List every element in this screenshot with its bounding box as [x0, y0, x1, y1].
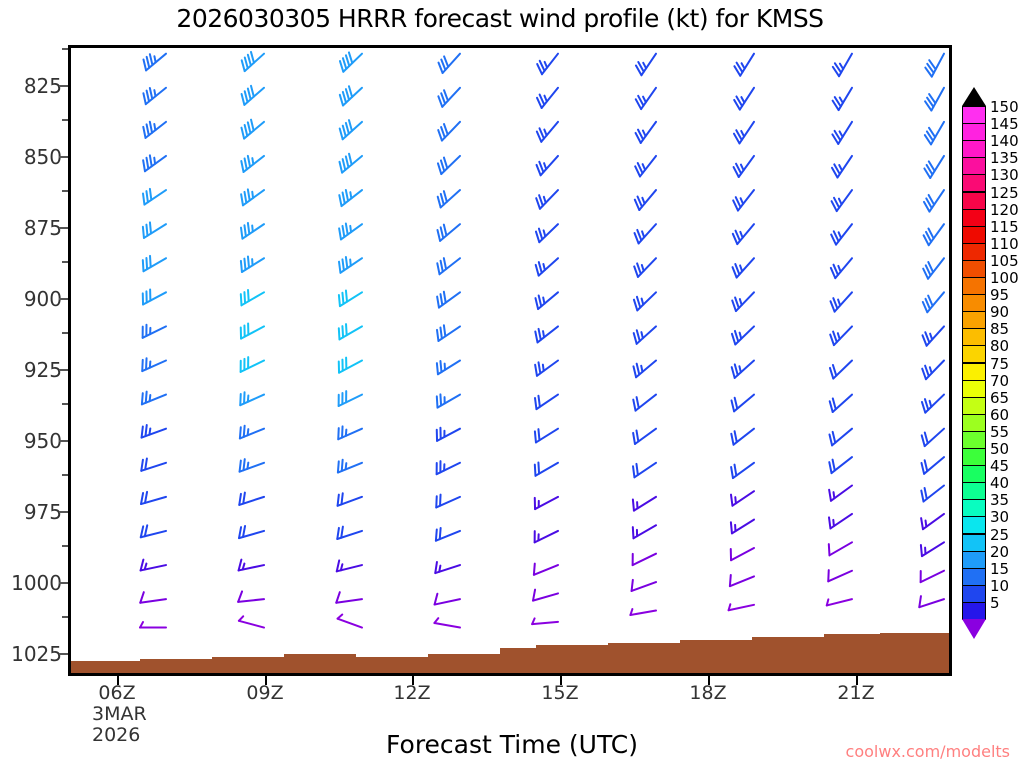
colorbar-extend-min-arrow [962, 619, 986, 639]
colorbar-tick-label: 20 [990, 543, 1009, 561]
y-axis-tick-mark [59, 369, 68, 371]
colorbar-tick-label: 25 [990, 526, 1009, 544]
barb-column [630, 54, 656, 615]
colorbar-swatch [962, 534, 986, 552]
colorbar-tick-label: 75 [990, 355, 1009, 373]
colorbar-swatch [962, 157, 986, 175]
y-axis-tick-label: 925 [0, 358, 62, 382]
colorbar-swatch [962, 363, 986, 381]
colorbar-swatch [962, 243, 986, 261]
colorbar-swatch [962, 174, 986, 192]
colorbar-swatch [962, 585, 986, 603]
barb-column [919, 54, 944, 607]
x-axis-tick-mark [856, 676, 858, 685]
y-axis-minor-tick [62, 545, 68, 547]
plot-inner [71, 48, 949, 673]
y-axis-minor-tick [62, 261, 68, 263]
y-axis-minor-tick [62, 474, 68, 476]
barb-column [336, 52, 362, 627]
colorbar-swatch [962, 602, 986, 620]
x-axis-tick-label: 06Z [98, 682, 135, 704]
y-axis-tick-label: 900 [0, 287, 62, 311]
colorbar-swatch [962, 516, 986, 534]
colorbar-legend: 1501451401351301251201151101051009590858… [962, 86, 1024, 656]
colorbar-swatch [962, 414, 986, 432]
colorbar-tick-label: 80 [990, 337, 1009, 355]
watermark-link[interactable]: coolwx.com/modelts [846, 742, 1010, 761]
barb-column [140, 54, 166, 628]
colorbar-tick-label: 30 [990, 508, 1009, 526]
colorbar-tick-label: 150 [990, 98, 1019, 116]
colorbar-swatch [962, 311, 986, 329]
colorbar-tick-label: 70 [990, 372, 1009, 390]
barb-column [827, 54, 852, 606]
colorbar-swatch [962, 106, 986, 124]
wind-barb-layer [71, 48, 949, 673]
colorbar-swatch [962, 380, 986, 398]
colorbar-swatch [962, 482, 986, 500]
x-axis-tick-label: 09Z [246, 682, 283, 704]
colorbar-swatch [962, 123, 986, 141]
colorbar-tick-label: 85 [990, 320, 1009, 338]
colorbar-tick-label: 145 [990, 115, 1019, 133]
x-axis-tick-mark [265, 676, 267, 685]
y-axis-tick-label: 950 [0, 429, 62, 453]
y-axis-tick-mark [59, 298, 68, 300]
colorbar-swatch [962, 499, 986, 517]
y-axis-tick-label: 825 [0, 74, 62, 98]
y-axis-minor-tick [62, 119, 68, 121]
colorbar-swatch [962, 397, 986, 415]
colorbar-extend-max-arrow [962, 87, 986, 106]
barb-column [238, 52, 264, 628]
colorbar-tick-label: 135 [990, 149, 1019, 167]
colorbar-swatch [962, 209, 986, 227]
x-axis-tick-label: 15Z [541, 682, 578, 704]
page-title: 2026030305 HRRR forecast wind profile (k… [0, 4, 1000, 33]
colorbar-tick-label: 115 [990, 218, 1019, 236]
colorbar-swatch [962, 431, 986, 449]
y-axis-minor-tick [62, 48, 68, 50]
x-axis-tick-label: 12Z [393, 682, 430, 704]
colorbar-tick-label: 60 [990, 406, 1009, 424]
y-axis-tick-mark [59, 582, 68, 584]
colorbar-swatch [962, 192, 986, 210]
barb-column [434, 54, 460, 628]
colorbar-tick-label: 95 [990, 286, 1009, 304]
y-axis-tick-mark [59, 156, 68, 158]
colorbar-swatch [962, 277, 986, 295]
x-axis-tick-mark [117, 676, 119, 685]
barb-column [729, 54, 754, 611]
colorbar-tick-label: 100 [990, 269, 1019, 287]
colorbar-tick-label: 125 [990, 184, 1019, 202]
y-axis-minor-tick [62, 616, 68, 618]
plot-area [68, 45, 952, 676]
colorbar-tick-label: 45 [990, 457, 1009, 475]
colorbar-swatch [962, 551, 986, 569]
barb-column [532, 54, 558, 624]
colorbar-tick-label: 40 [990, 474, 1009, 492]
colorbar-swatch [962, 260, 986, 278]
colorbar-swatch [962, 328, 986, 346]
colorbar-tick-label: 35 [990, 491, 1009, 509]
colorbar-tick-label: 65 [990, 389, 1009, 407]
y-axis-tick-label: 875 [0, 216, 62, 240]
y-axis-tick-mark [59, 511, 68, 513]
y-axis-tick-label: 975 [0, 500, 62, 524]
y-axis-tick-label: 1025 [0, 642, 62, 666]
date-stamp-month: 3MAR [92, 704, 147, 725]
colorbar-swatch [962, 568, 986, 586]
x-axis-tick-mark [560, 676, 562, 685]
y-axis-minor-tick [62, 403, 68, 405]
colorbar-swatch [962, 465, 986, 483]
colorbar-swatch [962, 294, 986, 312]
x-axis-tick-label: 21Z [837, 682, 874, 704]
y-axis-tick-mark [59, 653, 68, 655]
colorbar-tick-label: 130 [990, 166, 1019, 184]
colorbar-tick-label: 10 [990, 577, 1009, 595]
y-axis-tick-mark [59, 85, 68, 87]
colorbar-tick-label: 50 [990, 440, 1009, 458]
x-axis-tick-label: 18Z [689, 682, 726, 704]
chart-canvas: 2026030305 HRRR forecast wind profile (k… [0, 0, 1024, 768]
y-axis-tick-mark [59, 227, 68, 229]
colorbar-swatch [962, 140, 986, 158]
colorbar-tick-label: 55 [990, 423, 1009, 441]
colorbar-tick-label: 105 [990, 252, 1019, 270]
colorbar-tick-label: 140 [990, 132, 1019, 150]
colorbar-swatch [962, 345, 986, 363]
y-axis-minor-tick [62, 190, 68, 192]
x-axis-tick-mark [412, 676, 414, 685]
y-axis-tick-label: 1000 [0, 571, 62, 595]
y-axis-minor-tick [62, 332, 68, 334]
colorbar-tick-label: 110 [990, 235, 1019, 253]
y-axis-tick-mark [59, 440, 68, 442]
colorbar-tick-label: 15 [990, 560, 1009, 578]
colorbar-tick-label: 5 [990, 594, 1000, 612]
colorbar-tick-label: 120 [990, 201, 1019, 219]
colorbar-tick-label: 90 [990, 303, 1009, 321]
colorbar-swatch [962, 226, 986, 244]
colorbar-swatch [962, 448, 986, 466]
y-axis-tick-label: 850 [0, 145, 62, 169]
x-axis-tick-mark [708, 676, 710, 685]
terrain-fill [71, 633, 949, 673]
